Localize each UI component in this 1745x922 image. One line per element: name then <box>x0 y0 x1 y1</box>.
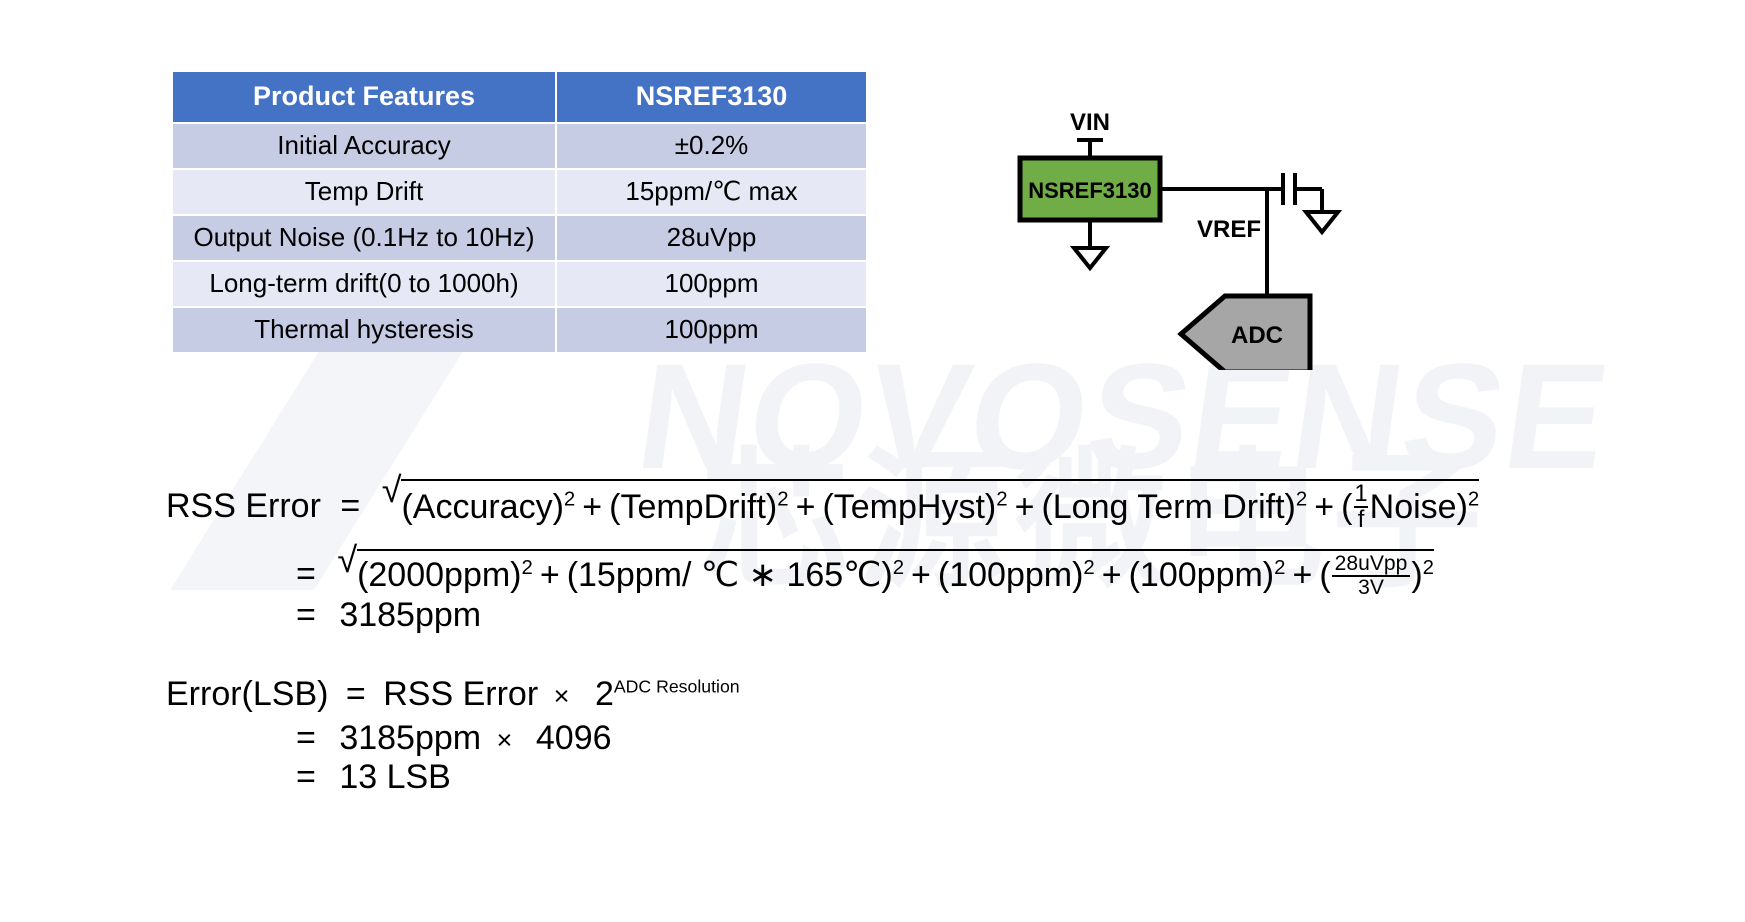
formula-plus: + <box>575 488 609 526</box>
formula-times: × <box>548 680 576 711</box>
formula-error-lsb-value: 13 LSB <box>339 758 451 796</box>
table-cell-value: 100ppm <box>557 308 866 352</box>
formula-term: (100ppm) <box>1129 556 1275 594</box>
fraction-noise-over-voltage: 28uVpp3V <box>1332 553 1411 599</box>
table-cell-value: ±0.2% <box>557 124 866 168</box>
formula-equals: = <box>296 758 330 796</box>
formula-term-exponent: 2 <box>996 488 1007 510</box>
sqrt-group: √(2000ppm)2+(15ppm/ ℃ ∗ 165℃)2+(100ppm)2… <box>335 548 1434 599</box>
capacitor-symbol <box>1267 173 1322 212</box>
table-cell-feature: Thermal hysteresis <box>173 308 555 352</box>
formula-line-error-lsb-numeric: = 3185ppm × 4096 <box>296 721 612 755</box>
formula-adc-codes-value: 4096 <box>528 719 612 757</box>
formula-equals: = <box>296 719 330 757</box>
fraction-numerator: 28uVpp <box>1332 553 1411 575</box>
table-row: Thermal hysteresis 100ppm <box>173 308 866 352</box>
table-cell-value: 100ppm <box>557 262 866 306</box>
formula-term-exponent: 2 <box>1083 557 1094 579</box>
fraction-one-over-f: 1f <box>1354 482 1367 532</box>
watermark-chinese-text: 芯源微电子 <box>700 400 1490 617</box>
formula-plus: + <box>533 556 567 594</box>
table-header-row: Product Features NSREF3130 <box>173 72 866 122</box>
table-cell-value: 28uVpp <box>557 216 866 260</box>
formula-plus: + <box>1307 488 1341 526</box>
nsref3130-label: NSREF3130 <box>1028 178 1152 203</box>
formula-plus: + <box>904 556 938 594</box>
formula-equals: = <box>338 675 374 713</box>
formula-term-exponent: 2 <box>1296 488 1307 510</box>
formula-power-exponent: ADC Resolution <box>614 677 740 697</box>
formula-term: (15ppm/ ℃ ∗ 165℃) <box>567 556 893 594</box>
formula-line-rss-error: RSS Error = √(Accuracy)2+(TempDrift)2+(T… <box>166 478 1479 533</box>
formula-equals: = <box>330 487 370 525</box>
formula-term: (TempDrift) <box>609 488 777 526</box>
formula-rhs-rss-error: RSS Error <box>383 675 538 713</box>
formula-plus: + <box>1285 556 1319 594</box>
formula-times: × <box>491 724 519 755</box>
formula-term-exponent: 2 <box>1423 557 1434 579</box>
vref-label: VREF <box>1197 216 1261 243</box>
formula-equals: = <box>296 596 330 634</box>
formula-power-base: 2 <box>585 675 614 713</box>
fraction-denominator: f <box>1354 506 1367 532</box>
table-row: Output Noise (0.1Hz to 10Hz) 28uVpp <box>173 216 866 260</box>
table-header-product-features: Product Features <box>173 72 555 122</box>
fraction-denominator: 3V <box>1332 575 1411 599</box>
reference-ground-symbol <box>1074 220 1106 268</box>
radical-icon: √ <box>337 542 357 578</box>
formula-line-error-lsb-result: = 13 LSB <box>296 760 451 794</box>
formula-plus: + <box>1095 556 1129 594</box>
formula-term-exponent: 2 <box>522 557 533 579</box>
formula-noise-open-paren: ( <box>1319 556 1330 594</box>
formula-lhs-error-lsb: Error(LSB) <box>166 675 328 713</box>
capacitor-ground-symbol <box>1306 212 1338 232</box>
formula-noise-close: Noise) <box>1370 488 1468 526</box>
table-cell-feature: Output Noise (0.1Hz to 10Hz) <box>173 216 555 260</box>
formula-rss-error-value: 3185ppm <box>339 596 481 634</box>
table-cell-feature: Initial Accuracy <box>173 124 555 168</box>
formula-term: (Accuracy) <box>401 488 563 526</box>
formula-term: (Long Term Drift) <box>1041 488 1295 526</box>
product-features-table: Product Features NSREF3130 Initial Accur… <box>173 72 866 354</box>
table-cell-value: 15ppm/℃ max <box>557 170 866 214</box>
sqrt-group: √(Accuracy)2+(TempDrift)2+(TempHyst)2+(L… <box>380 478 1480 533</box>
formula-noise-close: ) <box>1411 556 1422 594</box>
table-row: Long-term drift(0 to 1000h) 100ppm <box>173 262 866 306</box>
formula-term: (TempHyst) <box>822 488 996 526</box>
formula-term-exponent: 2 <box>1468 488 1479 510</box>
vin-wire <box>1077 140 1103 158</box>
formula-term: (100ppm) <box>938 556 1084 594</box>
vinculum: (2000ppm)2+(15ppm/ ℃ ∗ 165℃)2+(100ppm)2+… <box>357 549 1434 600</box>
table-header-nsref3130: NSREF3130 <box>557 72 866 122</box>
formula-equals: = <box>296 555 326 593</box>
formula-term-exponent: 2 <box>1274 557 1285 579</box>
table-row: Temp Drift 15ppm/℃ max <box>173 170 866 214</box>
formula-line-rss-result: = 3185ppm <box>296 598 481 632</box>
formula-term-exponent: 2 <box>893 557 904 579</box>
formula-term-exponent: 2 <box>777 488 788 510</box>
table-cell-feature: Long-term drift(0 to 1000h) <box>173 262 555 306</box>
formula-rss-ppm-value: 3185ppm <box>339 719 481 757</box>
watermark-logo-mark <box>170 340 470 590</box>
fraction-numerator: 1 <box>1354 482 1367 506</box>
formula-term: (2000ppm) <box>357 556 521 594</box>
table-row: Initial Accuracy ±0.2% <box>173 124 866 168</box>
formula-lhs-rss-error: RSS Error <box>166 487 321 525</box>
vinculum: (Accuracy)2+(TempDrift)2+(TempHyst)2+(Lo… <box>401 479 1479 534</box>
formula-noise-open-paren: ( <box>1341 488 1352 526</box>
radical-icon: √ <box>382 472 402 508</box>
vin-label: VIN <box>1070 109 1110 136</box>
formula-line-rss-numeric: = √(2000ppm)2+(15ppm/ ℃ ∗ 165℃)2+(100ppm… <box>296 548 1434 599</box>
formula-line-error-lsb: Error(LSB) = RSS Error × 2ADC Resolution <box>166 677 740 711</box>
formula-plus: + <box>1008 488 1042 526</box>
adc-label: ADC <box>1231 322 1283 349</box>
table-cell-feature: Temp Drift <box>173 170 555 214</box>
formula-term-exponent: 2 <box>564 488 575 510</box>
formula-plus: + <box>789 488 823 526</box>
application-circuit-diagram: VIN NSREF3130 VREF ADC <box>995 100 1415 370</box>
